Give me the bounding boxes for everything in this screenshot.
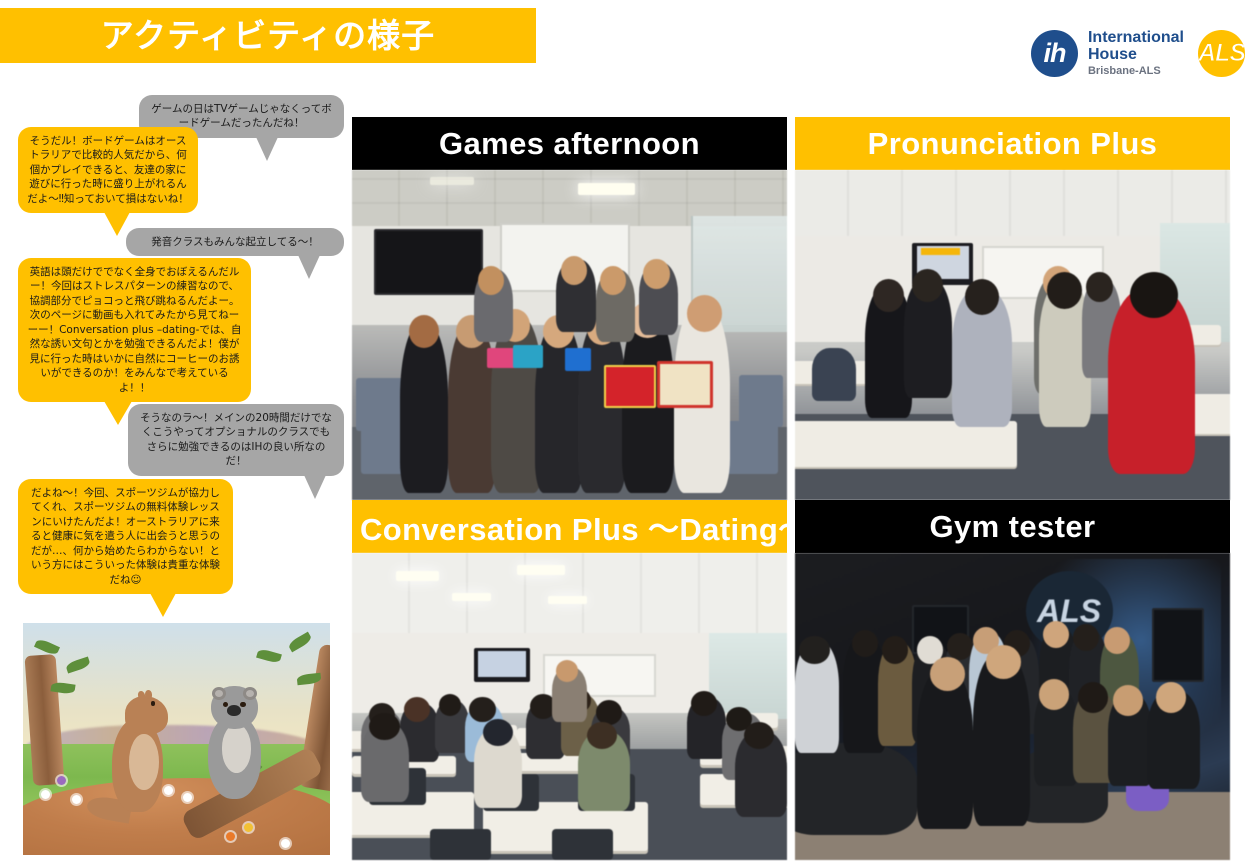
flower-icon	[226, 832, 235, 841]
person-head	[643, 259, 669, 289]
person-head	[1043, 621, 1069, 649]
wall-tv	[374, 229, 483, 295]
person-head	[1047, 272, 1082, 308]
game-box	[565, 348, 591, 371]
chair	[430, 829, 491, 860]
kangaroo-ear-icon	[145, 690, 152, 699]
person-head	[930, 657, 965, 691]
tv-content	[478, 651, 526, 677]
person-head	[912, 269, 942, 302]
koala-figure	[198, 683, 272, 804]
photo-caption-games-afternoon: Games afternoon	[352, 117, 787, 170]
ih-circle-icon: ih	[1031, 30, 1078, 77]
person-head	[469, 697, 495, 722]
person-head	[882, 636, 908, 664]
person-head	[1156, 682, 1186, 713]
brand-line-1: International	[1088, 30, 1184, 47]
speech-bubble-3-text: 発音クラスもみんな起立してる～！	[151, 236, 318, 248]
caption-text: Gym tester	[930, 509, 1096, 545]
koala-eye-icon	[240, 702, 245, 707]
speech-bubble-6-text: だよね～！今回、スポーツジムが協力してくれ、スポーツジムの無料体験レッスンにいけ…	[31, 487, 220, 586]
speech-bubble-4-text: 英語は頭だけででなく全身でおぼえるんだルー！今回はストレスパターンの練習なので、…	[28, 266, 242, 394]
game-box	[513, 345, 543, 368]
flower-icon	[164, 786, 173, 795]
ih-monogram: ih	[1031, 30, 1078, 77]
caption-text: Games afternoon	[439, 126, 700, 162]
koala-eye-icon	[223, 702, 228, 707]
speech-bubble-6: だよね～！今回、スポーツジムが協力してくれ、スポーツジムの無料体験レッスンにいけ…	[18, 479, 233, 594]
person-head	[687, 295, 722, 331]
photo-caption-conversation-plus: Conversation Plus ～Dating～	[352, 500, 787, 553]
ceiling-light	[430, 177, 474, 185]
photo-card-conversation-plus[interactable]: Conversation Plus ～Dating～	[352, 500, 787, 860]
photo-image-pronunciation-plus	[795, 170, 1230, 500]
speech-bubble-1-text: ゲームの日はTVゲームじゃなくってボードゲームだったんだね！	[151, 103, 331, 129]
person-head	[483, 719, 513, 747]
person-staff	[973, 654, 1030, 826]
photo-card-gym-tester[interactable]: Gym tester ALS	[795, 500, 1230, 860]
bean-bag	[795, 743, 917, 835]
person-head	[561, 256, 587, 286]
koala-head	[211, 686, 258, 729]
person-head	[404, 697, 430, 722]
photo-caption-pronunciation-plus: Pronunciation Plus	[795, 117, 1230, 170]
person-head	[1130, 272, 1178, 318]
ceiling-light	[548, 596, 587, 604]
kangaroo-belly	[129, 734, 158, 791]
photo-card-pronunciation-plus[interactable]: Pronunciation Plus	[795, 117, 1230, 500]
flower-icon	[72, 795, 81, 804]
slide-canvas: アクティビティの様子 ih International House Brisba…	[0, 0, 1259, 862]
speech-bubble-tail-icon	[104, 212, 130, 236]
ceiling-light	[578, 183, 635, 195]
person-head	[1039, 679, 1069, 710]
brand-logo: ih International House Brisbane-ALS ALS	[1031, 30, 1245, 77]
kangaroo-eye-icon	[151, 701, 156, 706]
photo-card-games-afternoon[interactable]: Games afternoon	[352, 117, 787, 500]
person-head	[873, 279, 903, 312]
caption-text: Conversation Plus ～Dating～	[360, 504, 787, 549]
person-head	[439, 694, 461, 715]
brand-wordmark: International House Brisbane-ALS	[1088, 30, 1184, 77]
person-head	[556, 660, 578, 681]
koala-nose-icon	[227, 705, 241, 716]
speech-bubble-2-text: そうだル！ボードゲームはオーストラリアで比較的人気だから、何個かプレイできると、…	[27, 135, 188, 205]
speech-bubble-3: 発音クラスもみんな起立してる～！	[126, 228, 344, 256]
photo-image-conversation-plus	[352, 553, 787, 860]
person-head	[600, 266, 626, 296]
ceiling-light	[517, 565, 565, 575]
als-monogram: ALS	[1198, 41, 1245, 66]
flower-icon	[183, 793, 192, 802]
brand-line-3: Brisbane-ALS	[1088, 66, 1184, 78]
chair	[726, 421, 778, 474]
page-title-band: アクティビティの様子	[0, 8, 536, 63]
photo-caption-gym-tester: Gym tester	[795, 500, 1230, 553]
flower-icon	[281, 839, 290, 848]
speech-bubble-tail-icon	[304, 475, 326, 499]
speech-bubble-tail-icon	[298, 255, 320, 279]
chair	[552, 829, 613, 860]
koala-ear-icon	[212, 687, 226, 700]
ceiling-light	[452, 593, 491, 601]
person-head	[852, 630, 878, 658]
person-head	[799, 636, 829, 664]
caption-text: Pronunciation Plus	[868, 126, 1158, 162]
kangaroo-figure	[103, 688, 177, 823]
person-head	[369, 713, 399, 741]
person-head	[1078, 682, 1108, 713]
door	[1152, 608, 1204, 682]
person-head	[1113, 685, 1143, 716]
flower-icon	[244, 823, 253, 832]
photo-image-games-afternoon	[352, 170, 787, 500]
ceiling	[352, 553, 787, 633]
person-head	[1086, 272, 1112, 302]
tv-slide-title	[921, 248, 960, 255]
speech-bubble-4: 英語は頭だけででなく全身でおぼえるんだルー！今回はストレスパターンの練習なので、…	[18, 258, 251, 402]
person-staff	[917, 670, 974, 830]
game-box-twister	[604, 365, 656, 408]
ceiling-light	[396, 571, 440, 580]
person-head	[409, 315, 439, 348]
brand-line-2: House	[1088, 47, 1184, 64]
als-circle-icon: ALS	[1198, 30, 1245, 77]
koala-belly	[222, 724, 251, 772]
page-title: アクティビティの様子	[101, 19, 435, 52]
game-box-monopoly	[657, 361, 714, 407]
photo-image-gym-tester: ALS	[795, 553, 1230, 860]
koala-ear-icon	[243, 687, 257, 700]
backpack	[812, 348, 856, 401]
desk	[795, 421, 1017, 467]
person-head	[691, 691, 717, 716]
speech-bubble-5-text: そうなのラ～！メインの20時間だけでなくこうやってオプショナルのクラスでもさらに…	[140, 412, 332, 467]
speech-bubble-2: そうだル！ボードゲームはオーストラリアで比較的人気だから、何個かプレイできると、…	[18, 127, 198, 213]
speech-bubble-tail-icon	[256, 137, 278, 161]
person-head	[1104, 627, 1130, 655]
speech-bubble-5: そうなのラ～！メインの20時間だけでなくこうやってオプショナルのクラスでもさらに…	[128, 404, 344, 476]
photo-grid: Games afternoon	[352, 117, 1245, 859]
chair	[739, 375, 783, 428]
speech-bubble-tail-icon	[150, 593, 176, 617]
person-head	[986, 645, 1021, 679]
kangaroo-koala-illustration	[23, 623, 330, 855]
kangaroo-head	[125, 696, 168, 734]
